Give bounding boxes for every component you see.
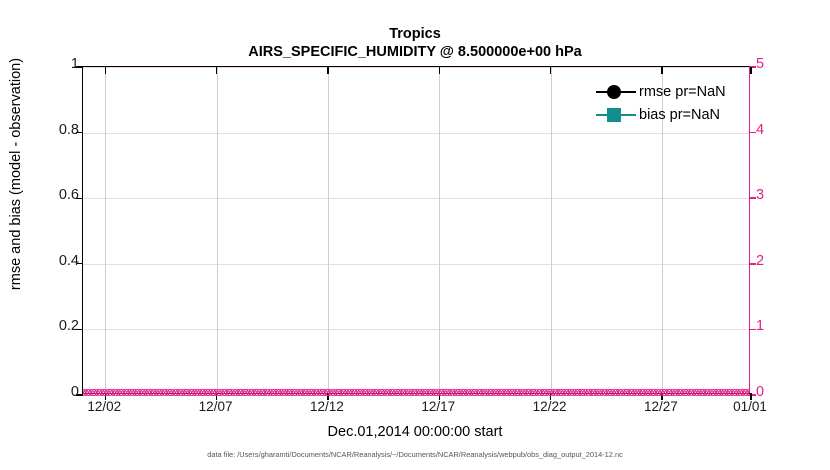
- gridline-horizontal: [83, 198, 749, 199]
- y-tick-label-left: 1: [35, 56, 79, 72]
- x-axis-label: Dec.01,2014 00:00:00 start: [0, 424, 830, 440]
- y-tick-label-right: 3: [756, 187, 786, 203]
- tick-mark-right: [749, 329, 756, 331]
- tick-mark-top: [661, 67, 662, 74]
- y-tick-label-left: 0: [35, 384, 79, 400]
- data-file-caption: data file: /Users/gharamti/Documents/NCA…: [0, 450, 830, 459]
- tick-mark-top: [216, 67, 217, 74]
- x-tick-label: 12/17: [393, 399, 483, 414]
- figure-canvas: Tropics AIRS_SPECIFIC_HUMIDITY @ 8.50000…: [0, 0, 830, 470]
- y-tick-label-left: 0.2: [35, 318, 79, 334]
- filled-circle-marker: [596, 85, 636, 99]
- legend-entry-rmse: rmse pr=NaN: [596, 82, 726, 101]
- y-axis-label-left: rmse and bias (model - observation): [8, 0, 24, 404]
- x-tick-label: 12/07: [171, 399, 261, 414]
- tick-mark-top: [327, 67, 328, 74]
- gridline-horizontal: [83, 329, 749, 330]
- legend-entry-bias: bias pr=NaN: [596, 105, 726, 124]
- gridline-vertical: [551, 67, 552, 393]
- x-tick-label: 12/27: [616, 399, 706, 414]
- x-tick-label: 12/22: [505, 399, 595, 414]
- legend: rmse pr=NaN bias pr=NaN: [596, 82, 726, 124]
- y-tick-label-right: 4: [756, 122, 786, 138]
- tick-mark-right: [749, 197, 756, 199]
- gridline-vertical: [439, 67, 440, 393]
- tick-mark-top: [439, 67, 440, 74]
- tick-mark-right: [749, 263, 756, 265]
- y-tick-label-right: 2: [756, 253, 786, 269]
- tick-mark-top: [550, 67, 551, 74]
- legend-label-rmse: rmse pr=NaN: [636, 84, 726, 100]
- legend-label-bias: bias pr=NaN: [636, 107, 720, 123]
- obs-assimilated-marker: x: [748, 386, 750, 399]
- x-tick-label: 12/12: [282, 399, 372, 414]
- x-tick-label: 12/02: [59, 399, 149, 414]
- y-tick-label-left: 0.6: [35, 187, 79, 203]
- tick-mark-right: [749, 132, 756, 134]
- gridline-horizontal: [83, 264, 749, 265]
- x-tick-label: 01/01: [705, 399, 795, 414]
- y-tick-label-left: 0.8: [35, 122, 79, 138]
- figure-title-primary: Tropics: [0, 26, 830, 42]
- figure-title-secondary: AIRS_SPECIFIC_HUMIDITY @ 8.500000e+00 hP…: [0, 44, 830, 60]
- gridline-horizontal: [83, 67, 749, 68]
- y-tick-label-right: 0: [756, 384, 786, 400]
- filled-square-marker: [596, 108, 636, 122]
- tick-mark-top: [105, 67, 106, 74]
- y-tick-label-right: 1: [756, 318, 786, 334]
- gridline-horizontal: [83, 133, 749, 134]
- tick-mark-top: [750, 67, 751, 74]
- gridline-vertical: [105, 67, 106, 393]
- gridline-vertical: [217, 67, 218, 393]
- y-tick-label-right: 5: [756, 56, 786, 72]
- observation-count-markers: oxoxoxoxoxoxoxoxoxoxoxoxoxoxoxoxoxoxoxox…: [83, 386, 749, 399]
- y-tick-label-left: 0.4: [35, 253, 79, 269]
- gridline-vertical: [328, 67, 329, 393]
